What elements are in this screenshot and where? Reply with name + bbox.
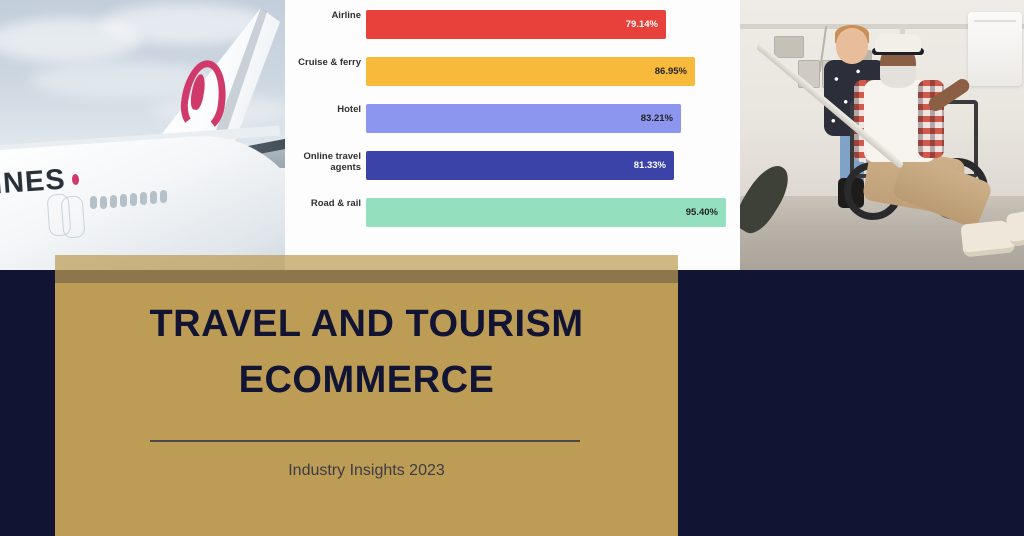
chart-category-label: Hotel (285, 104, 361, 115)
chart-category-label: Cruise & ferry (285, 57, 361, 68)
title-line-1: TRAVEL AND TOURISM (55, 296, 678, 352)
airplane-window (160, 190, 167, 203)
airline-logo-icon (176, 60, 220, 122)
title-divider (150, 440, 580, 442)
chart-category-label: Road & rail (285, 198, 361, 209)
page-title: TRAVEL AND TOURISM ECOMMERCE (55, 296, 678, 408)
chart-value-label: 79.14% (626, 19, 666, 30)
chart-value-label: 81.33% (634, 160, 674, 171)
wall-vent (774, 36, 804, 58)
bar-chart: Airline 79.14% Cruise & ferry 86.95% Hot… (285, 0, 740, 270)
top-image-band: INES Airline 79.14% (0, 0, 1024, 270)
person-seated (856, 34, 966, 234)
chart-bar: 79.14% (366, 10, 666, 39)
chart-value-label: 95.40% (686, 207, 726, 218)
chart-row: Hotel 83.21% (285, 104, 740, 151)
chart-row: Cruise & ferry 86.95% (285, 57, 740, 104)
airplane-door (61, 195, 86, 238)
airplane-window (140, 192, 147, 205)
chart-row: Airline 79.14% (285, 10, 740, 57)
chart-value-label: 83.21% (641, 113, 681, 124)
captain-hat-icon (875, 34, 921, 52)
wheelchair-paddle-photo (740, 0, 1024, 270)
chart-category-label: Airline (285, 10, 361, 21)
airplane-window (120, 194, 127, 207)
airplane-window (110, 195, 117, 208)
air-conditioner-icon (968, 12, 1022, 86)
person-beard (880, 66, 916, 88)
chart-bar: 83.21% (366, 104, 681, 133)
chart-bar: 95.40% (366, 198, 726, 227)
chart-bar: 81.33% (366, 151, 674, 180)
chart-value-label: 86.95% (655, 66, 695, 77)
chart-rows: Airline 79.14% Cruise & ferry 86.95% Hot… (285, 10, 740, 245)
airplane-photo: INES (0, 0, 285, 270)
chart-bar: 86.95% (366, 57, 695, 86)
airplane-window (100, 196, 107, 209)
airplane-window (90, 196, 97, 209)
chart-row: Online travel agents 81.33% (285, 151, 740, 198)
title-line-2: ECOMMERCE (55, 352, 678, 408)
airplane-window (150, 191, 157, 204)
subtitle: Industry Insights 2023 (55, 462, 678, 480)
airplane-window (130, 193, 137, 206)
slide-canvas: INES Airline 79.14% (0, 0, 1024, 536)
chart-row: Road & rail 95.40% (285, 198, 740, 245)
gold-overlay-strip (55, 255, 678, 283)
chart-category-label: Online travel agents (285, 151, 361, 173)
